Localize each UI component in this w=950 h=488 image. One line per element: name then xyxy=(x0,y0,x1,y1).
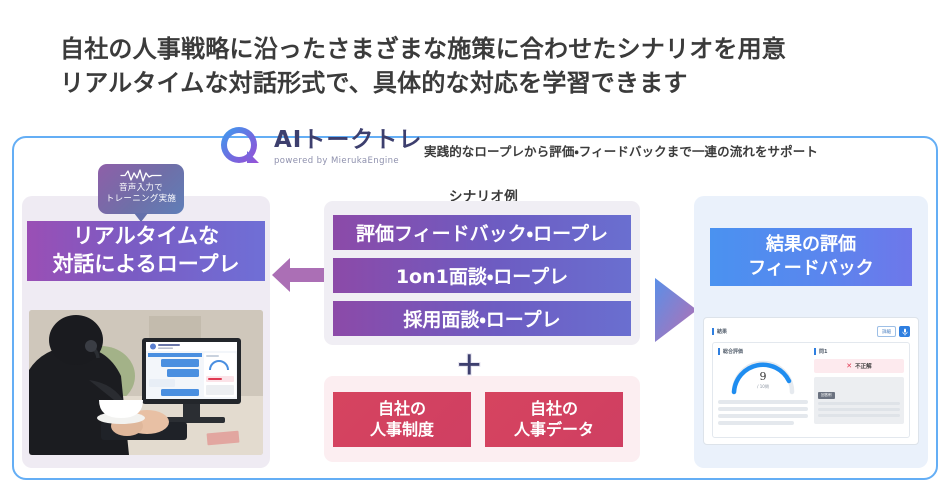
page-title: 自社の人事戦略に沿ったさまざまな施策に合わせたシナリオを用意 リアルタイムな対話… xyxy=(60,32,900,100)
answer-example-tag: 回答例 xyxy=(818,392,835,399)
placeholder-bar xyxy=(718,400,808,404)
cross-icon: ✕ xyxy=(846,362,852,370)
score-value: 9 xyxy=(718,370,808,383)
brand-powered-by: powered by MierukaEngine xyxy=(274,156,422,166)
placeholder-bar xyxy=(718,421,794,425)
source-card-hr-system-line-2: 人事制度 xyxy=(370,420,434,440)
scenario-item-evaluation-feedback[interactable]: 評価フィードバック・ロープレ xyxy=(333,215,631,250)
placeholder-bar xyxy=(718,414,808,418)
placeholder-bar xyxy=(718,407,808,411)
answer-example-box: 回答例 xyxy=(814,377,904,424)
left-title-line-1: リアルタイムな xyxy=(73,223,219,251)
score-gauge: 9 / 10問 xyxy=(718,358,808,396)
scenario-item-recruiting-interview[interactable]: 採用面談・ロープレ xyxy=(333,301,631,336)
mockup-header-actions: 詳細 xyxy=(877,326,910,337)
brand-logo: AIトークトレ powered by MierukaEngine xyxy=(218,124,422,170)
placeholder-bar xyxy=(818,402,900,405)
brand-text: AIトークトレ powered by MierukaEngine xyxy=(274,128,422,165)
status-badge-label: 不正解 xyxy=(855,362,872,370)
left-title-banner: リアルタイムな 対話によるロープレ xyxy=(27,221,265,281)
brand-tagline: 実践的なロープレから評価・フィードバックまで一連の流れをサポート xyxy=(424,141,818,160)
source-card-hr-data: 自社の 人事データ xyxy=(485,392,623,447)
score-denominator: / 10問 xyxy=(718,384,808,390)
mockup-header-label: 結果 xyxy=(712,328,727,335)
mockup-score-column: 総合評価 9 / 10問 xyxy=(718,348,808,432)
placeholder-bar xyxy=(818,408,900,411)
mockup-question-label: 問1 xyxy=(814,348,904,355)
headline-line-2: リアルタイムな対話形式で、具体的な対応を学習できます xyxy=(60,66,900,100)
mockup-question-column: 問1 ✕ 不正解 回答例 xyxy=(814,348,904,432)
status-badge: ✕ 不正解 xyxy=(814,359,904,373)
headline-line-1: 自社の人事戦略に沿ったさまざまな施策に合わせたシナリオを用意 xyxy=(60,35,786,63)
roleplay-photo xyxy=(29,310,263,455)
voice-input-callout: 音声入力で トレーニング実施 xyxy=(98,164,184,214)
left-title-line-2: 対話によるロープレ xyxy=(52,251,239,279)
mockup-body: 総合評価 9 / 10問 問1 ✕ 不正解 xyxy=(712,342,910,438)
source-card-hr-data-line-1: 自社の xyxy=(530,399,578,419)
right-title-banner: 結果の評価 フィードバック xyxy=(710,228,912,286)
quote-circle-logo-icon xyxy=(218,124,264,170)
source-card-hr-data-line-2: 人事データ xyxy=(514,420,594,440)
right-title-line-2: フィードバック xyxy=(748,257,874,281)
audio-waveform-icon xyxy=(119,169,163,182)
mockup-score-label: 総合評価 xyxy=(718,348,808,355)
result-screen-mockup: 結果 詳細 総合評価 9 / 10問 xyxy=(703,317,919,445)
score-text-placeholder xyxy=(718,400,808,428)
mockup-header: 結果 詳細 xyxy=(712,325,910,338)
source-card-hr-system: 自社の 人事制度 xyxy=(333,392,471,447)
brand-name: AIトークトレ xyxy=(274,128,422,152)
triangle-arrow-right-icon xyxy=(655,278,697,342)
microphone-icon[interactable] xyxy=(899,326,910,337)
detail-button[interactable]: 詳細 xyxy=(877,326,896,337)
source-card-hr-system-line-1: 自社の xyxy=(378,399,426,419)
voice-callout-line-1: 音声入力で xyxy=(98,183,184,194)
right-title-line-1: 結果の評価 xyxy=(766,233,856,257)
scenario-item-1on1[interactable]: 1on1面談・ロープレ xyxy=(333,258,631,293)
voice-callout-line-2: トレーニング実施 xyxy=(98,194,184,205)
placeholder-bar xyxy=(818,414,900,417)
